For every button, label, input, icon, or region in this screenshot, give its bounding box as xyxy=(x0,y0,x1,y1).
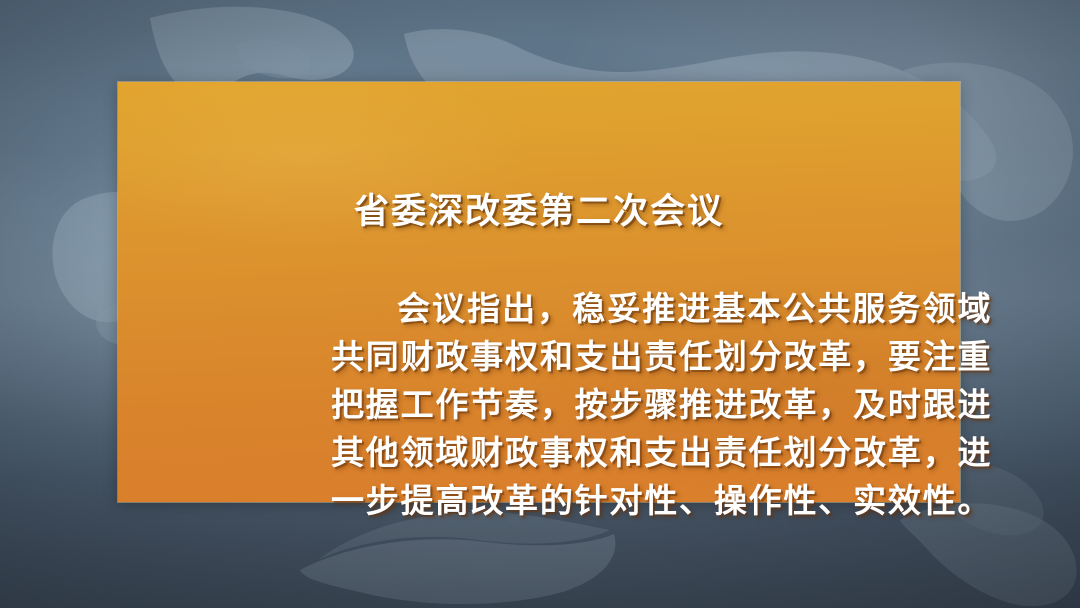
caption-card: 省委深改委第二次会议 会议指出，稳妥推进基本公共服务领域共同财政事权和支出责任划… xyxy=(118,82,960,502)
page-title: 省委深改委第二次会议 xyxy=(118,195,960,230)
screenshot-root: 省委深改委第二次会议 会议指出，稳妥推进基本公共服务领域共同财政事权和支出责任划… xyxy=(0,0,1080,608)
caption-body-text: 会议指出，稳妥推进基本公共服务领域共同财政事权和支出责任划分改革，要注重把握工作… xyxy=(331,285,991,573)
